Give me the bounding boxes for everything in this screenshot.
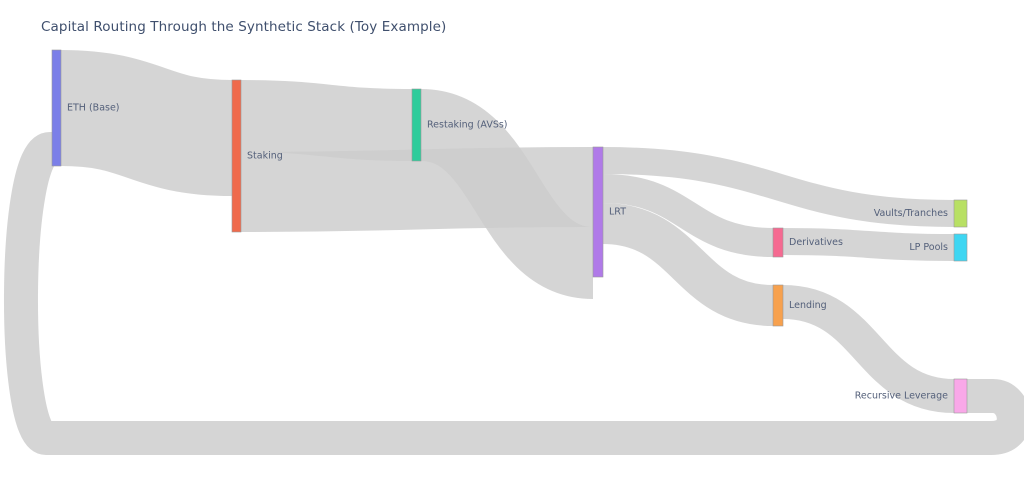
sankey-node-label-lending: Lending	[789, 300, 827, 311]
sankey-node-staking[interactable]	[232, 80, 241, 232]
sankey-node-label-eth: ETH (Base)	[67, 103, 120, 114]
sankey-node-label-derivs: Derivatives	[789, 237, 843, 248]
sankey-figure: Capital Routing Through the Synthetic St…	[0, 0, 1024, 483]
sankey-node-eth[interactable]	[52, 50, 61, 166]
sankey-node-label-staking: Staking	[247, 151, 283, 162]
sankey-node-restaking[interactable]	[412, 89, 421, 161]
sankey-node-label-lppools: LP Pools	[909, 242, 948, 253]
sankey-node-derivs[interactable]	[773, 228, 783, 257]
sankey-node-vaults[interactable]	[954, 200, 967, 227]
sankey-link-staking-to-restaking[interactable]	[241, 116, 412, 125]
sankey-node-recursive[interactable]	[954, 379, 967, 413]
sankey-node-label-lrt: LRT	[609, 207, 626, 218]
sankey-node-lending[interactable]	[773, 285, 783, 326]
sankey-canvas: ETH (Base)StakingRestaking (AVSs)LRTDeri…	[0, 0, 1024, 483]
sankey-node-lrt[interactable]	[593, 147, 603, 277]
sankey-node-lppools[interactable]	[954, 234, 967, 261]
sankey-node-label-restaking: Restaking (AVSs)	[427, 120, 508, 131]
sankey-link-lending-to-recursive[interactable]	[783, 302, 954, 396]
links-layer	[21, 108, 1014, 438]
sankey-node-label-vaults: Vaults/Tranches	[874, 208, 948, 219]
sankey-node-label-recursive: Recursive Leverage	[855, 391, 948, 402]
